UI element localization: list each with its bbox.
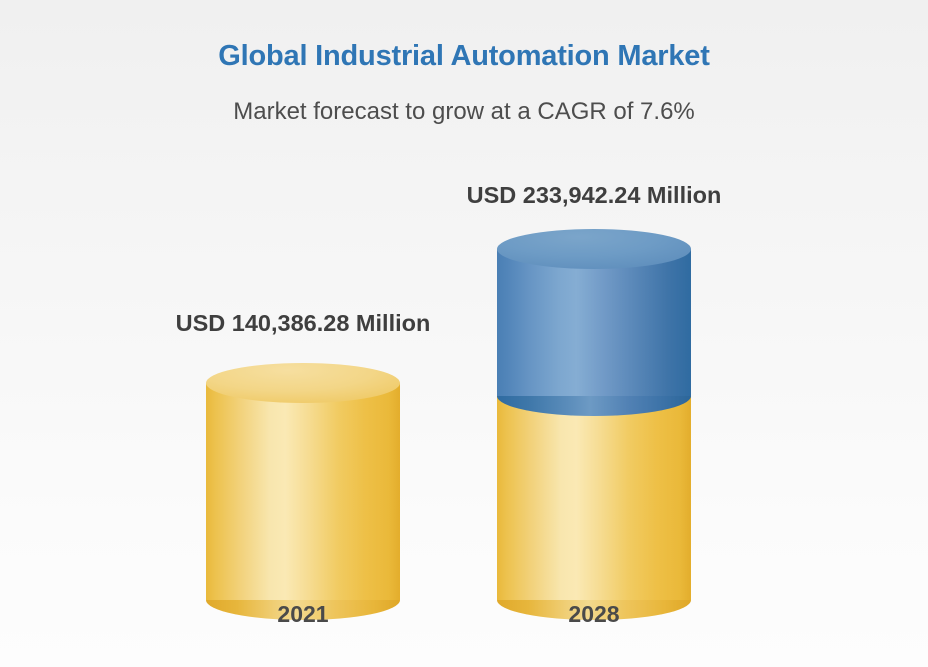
bar-group-2028[interactable]: USD 233,942.24 Million 2028 <box>497 0 691 667</box>
cylinder-top-ellipse <box>497 229 691 269</box>
plot-area: USD 140,386.28 Million 2021 USD 233,942.… <box>0 0 928 667</box>
cylinder-body <box>206 383 400 600</box>
bar-value-label: USD 140,386.28 Million <box>93 310 513 337</box>
cylinder-segment-growth <box>497 229 691 396</box>
category-label-2021: 2021 <box>206 601 400 628</box>
chart-canvas: Global Industrial Automation Market Mark… <box>0 0 928 667</box>
cylinder-body <box>497 249 691 396</box>
category-label-2028: 2028 <box>497 601 691 628</box>
cylinder-segment-base <box>206 363 400 600</box>
bar-value-label: USD 233,942.24 Million <box>384 182 804 209</box>
bar-group-2021[interactable]: USD 140,386.28 Million 2021 <box>206 0 400 667</box>
cylinder-top-ellipse <box>206 363 400 403</box>
